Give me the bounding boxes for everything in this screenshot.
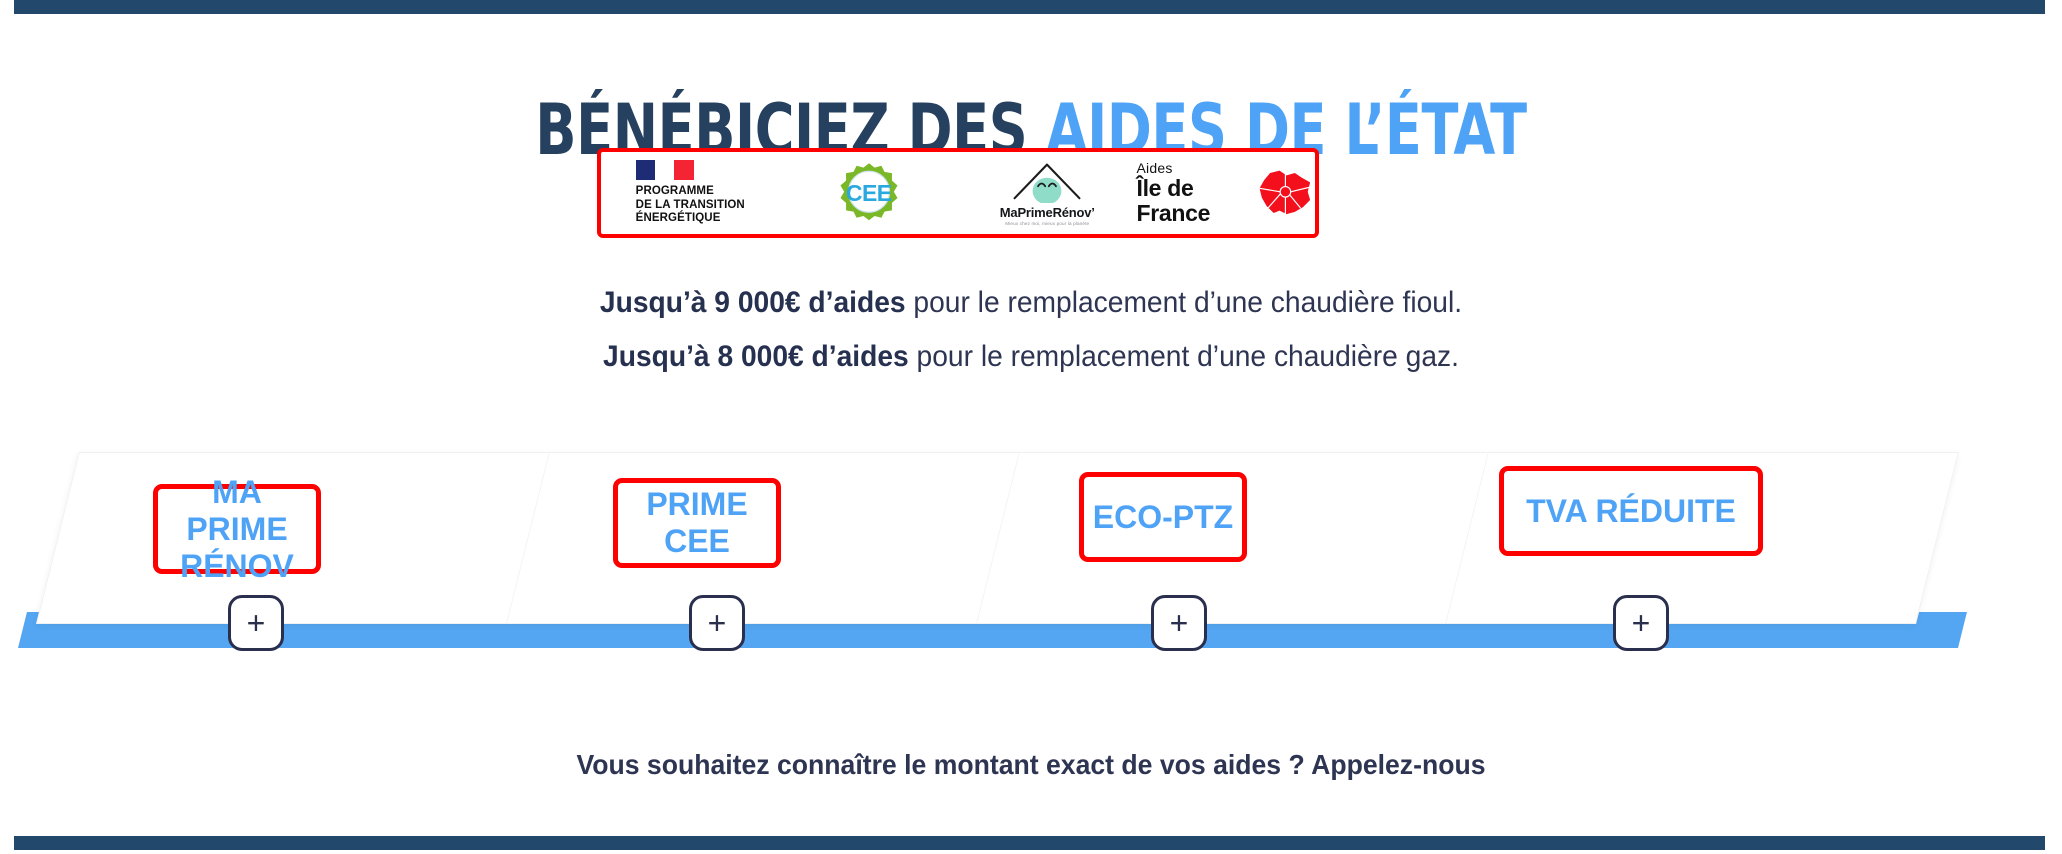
partner-logo-strip: PROGRAMME DE LA TRANSITION ÉNERGÉTIQUE C… — [597, 148, 1319, 238]
bottom-accent-bar — [14, 836, 2045, 850]
aid-card-ma-prime-renov[interactable]: MA PRIME RÉNOV — [153, 484, 321, 574]
aid-types-banner: MA PRIME RÉNOV + PRIME CEE + ECO-PTZ + T… — [0, 452, 2062, 682]
aid-card-prime-cee[interactable]: PRIME CEE — [613, 478, 781, 568]
aid-card-label: ECO-PTZ — [1093, 499, 1233, 536]
cee-badge-icon: CEE — [838, 162, 900, 224]
logo-programme-transition-energetique: PROGRAMME DE LA TRANSITION ÉNERGÉTIQUE — [601, 152, 780, 234]
maprimerenov-tagline: Mieux chez moi, mieux pour la planète — [1005, 221, 1089, 226]
maprimerenov-label: MaPrimeRénov’ — [1000, 205, 1095, 220]
plus-icon: + — [1632, 607, 1651, 639]
aid-amount-bold: Jusqu’à 8 000€ d’aides — [603, 340, 909, 373]
aid-amount-bold: Jusqu’à 9 000€ d’aides — [600, 286, 906, 319]
logo-aides-ile-de-france: Aides Île de France — [1137, 152, 1316, 234]
ile-de-france-map-icon — [1256, 165, 1315, 221]
aid-card-label: PRIME CEE — [646, 486, 747, 560]
logo-ptf-line-1: PROGRAMME — [636, 185, 745, 199]
plus-icon: + — [247, 607, 266, 639]
contact-cta-text: Vous souhaitez connaître le montant exac… — [52, 745, 2011, 785]
aid-amount-lines: Jusqu’à 9 000€ d’aides pour le remplacem… — [0, 276, 2062, 384]
aid-amount-rest: pour le remplacement d’une chaudière gaz… — [909, 340, 1459, 373]
logo-maprimerenov: MaPrimeRénov’ Mieux chez moi, mieux pour… — [958, 152, 1137, 234]
aid-card-label: MA PRIME RÉNOV — [158, 474, 316, 585]
top-accent-bar — [14, 0, 2045, 14]
french-flag-icon — [636, 160, 694, 180]
aid-card-tva-reduite[interactable]: TVA RÉDUITE — [1499, 466, 1763, 556]
aid-card-expand-button-tva-reduite[interactable]: + — [1613, 595, 1669, 651]
aid-card-eco-ptz[interactable]: ECO-PTZ — [1079, 472, 1247, 562]
logo-cee: CEE — [780, 152, 959, 234]
aid-card-expand-button-prime-cee[interactable]: + — [689, 595, 745, 651]
cee-label: CEE — [846, 180, 892, 207]
plus-icon: + — [1170, 607, 1189, 639]
aid-card-expand-button-eco-ptz[interactable]: + — [1151, 595, 1207, 651]
house-smiley-icon — [1011, 161, 1083, 203]
idf-small-label: Aides — [1137, 160, 1173, 176]
aid-card-expand-button-ma-prime-renov[interactable]: + — [228, 595, 284, 651]
plus-icon: + — [708, 607, 727, 639]
idf-big-label: Île de France — [1137, 176, 1249, 226]
aid-amount-rest: pour le remplacement d’une chaudière fio… — [906, 286, 1463, 319]
aid-card-label: TVA RÉDUITE — [1526, 493, 1736, 530]
logo-ptf-line-3: ÉNERGÉTIQUE — [636, 212, 745, 226]
aid-amount-line: Jusqu’à 9 000€ d’aides pour le remplacem… — [62, 276, 2000, 330]
aid-amount-line: Jusqu’à 8 000€ d’aides pour le remplacem… — [62, 330, 2000, 384]
logo-ptf-line-2: DE LA TRANSITION — [636, 199, 745, 213]
